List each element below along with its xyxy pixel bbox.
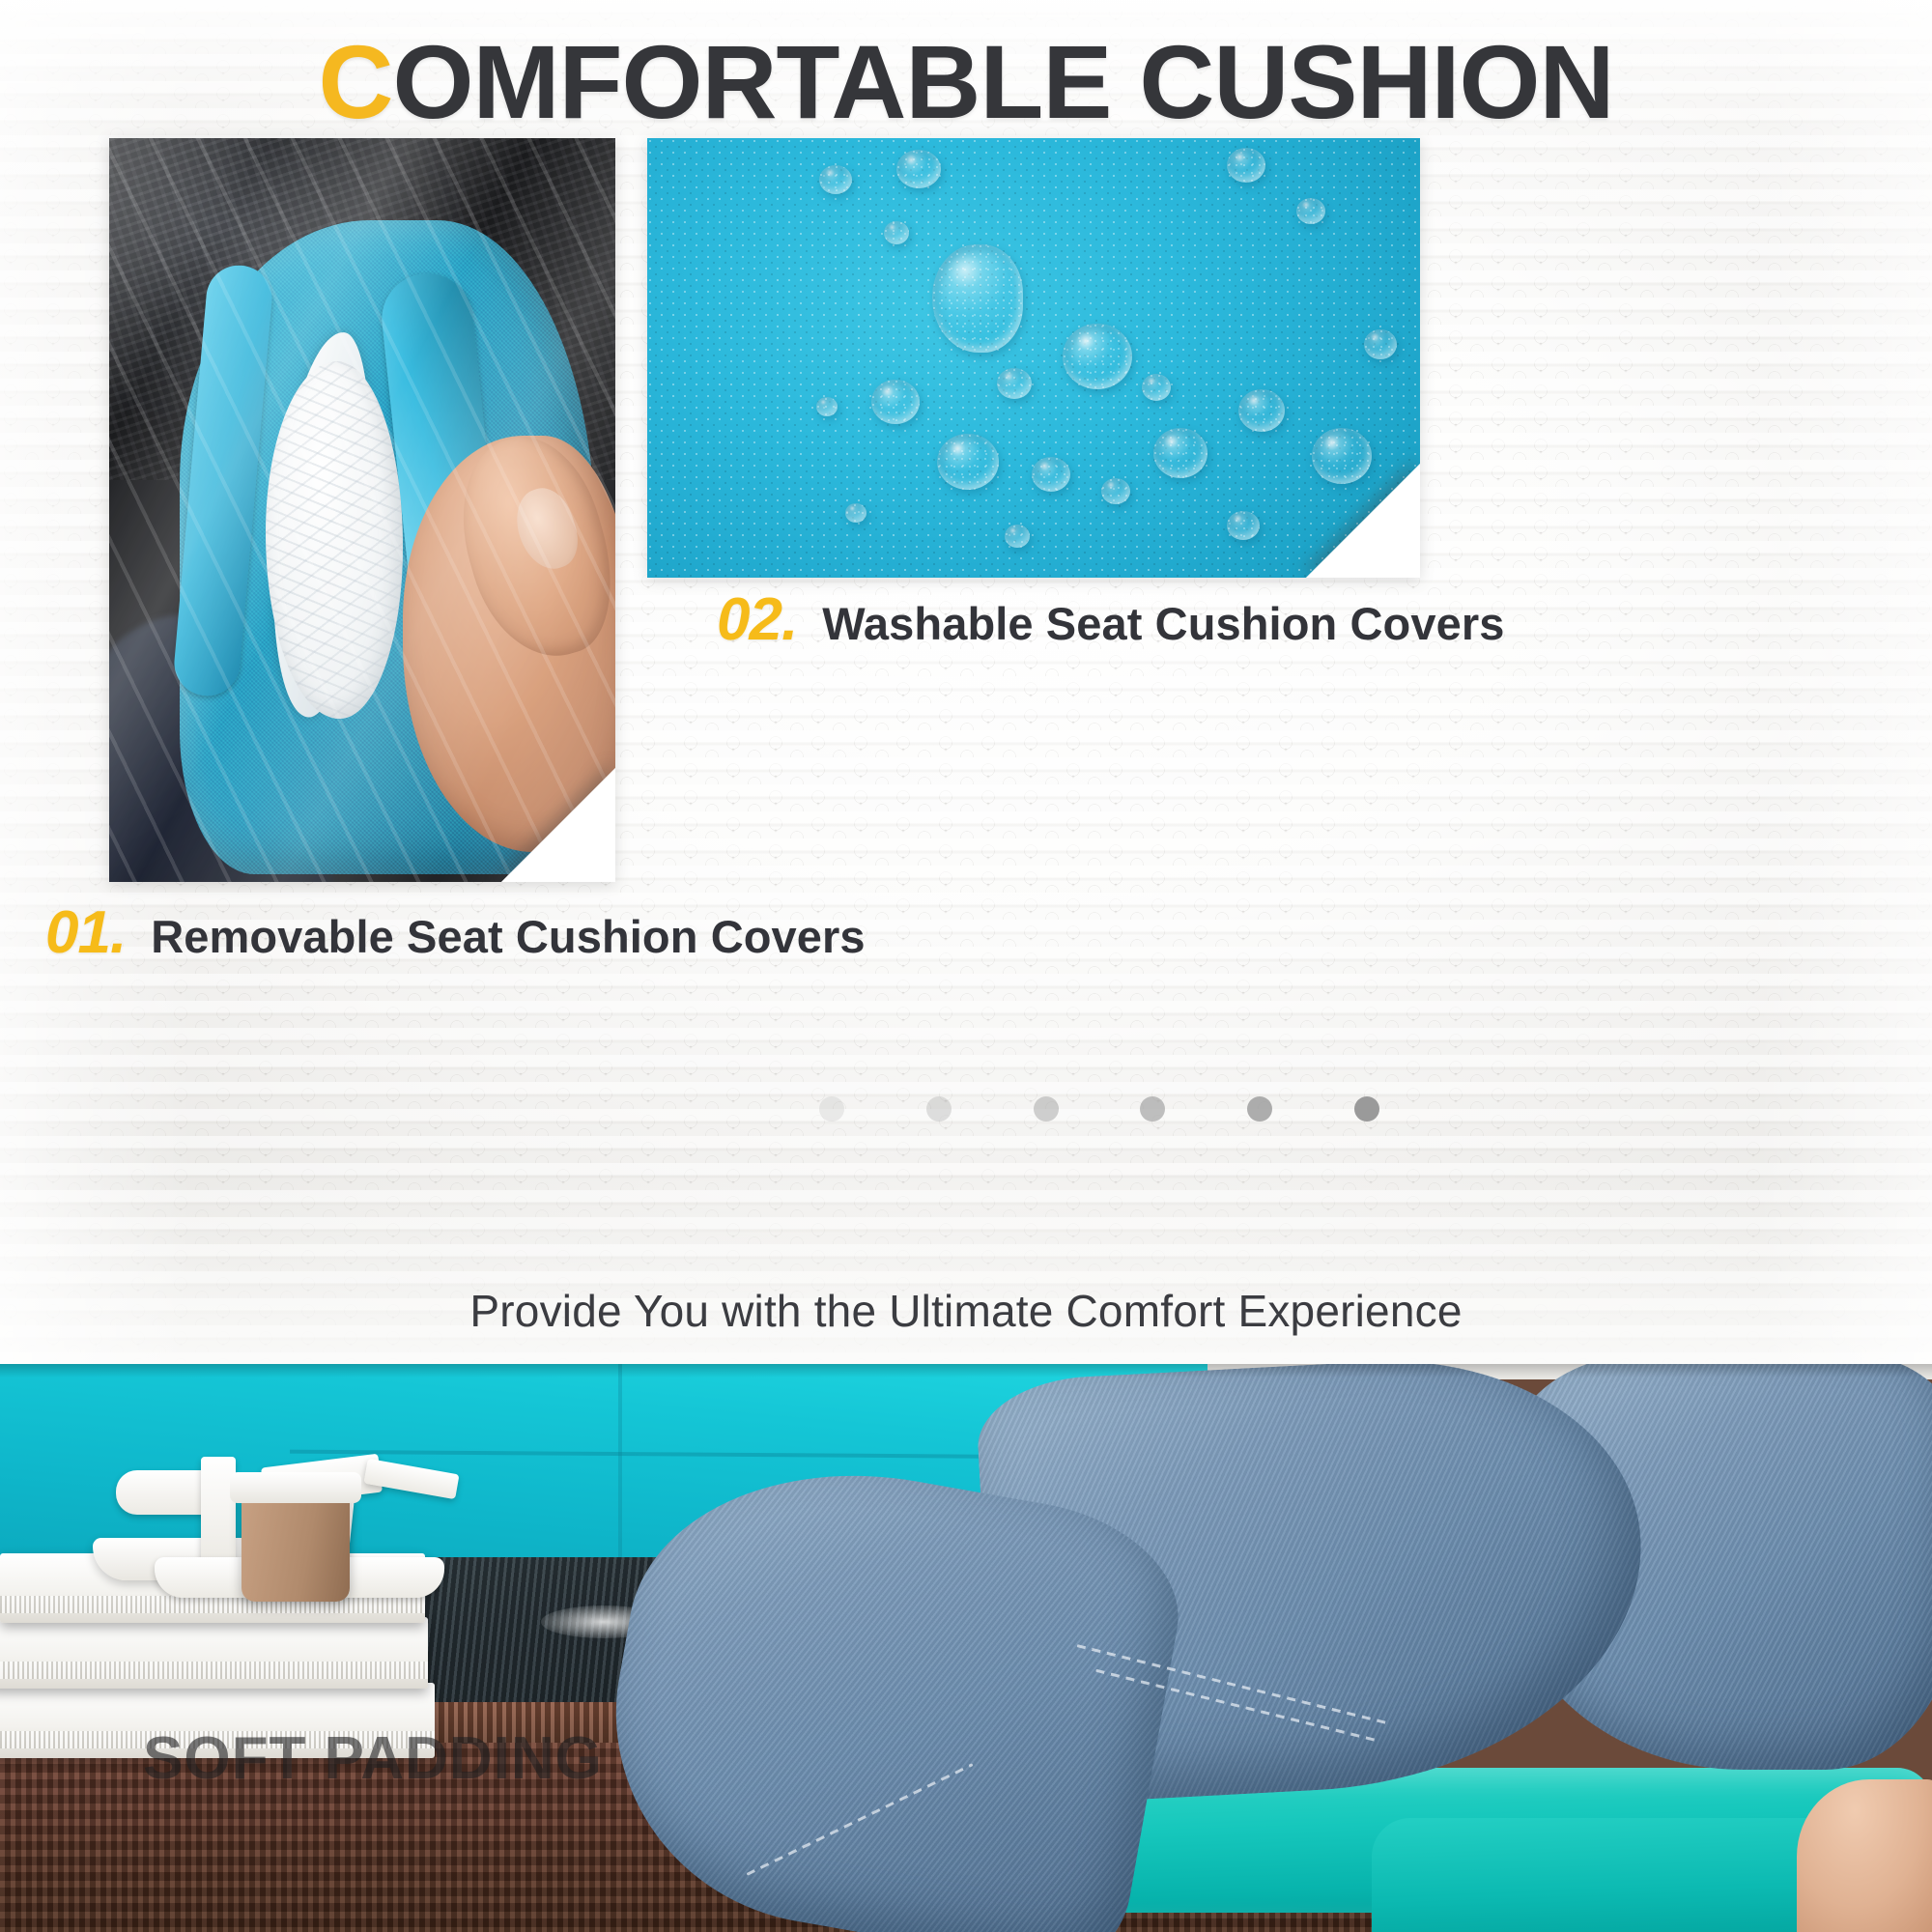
product-feature-poster: COMFORTABLE CUSHION	[0, 0, 1932, 1932]
dot-indicator	[1140, 1096, 1165, 1122]
water-droplet	[1227, 511, 1260, 540]
book-middle	[0, 1617, 428, 1689]
title-rest: OMFORTABLE CUSHION	[393, 23, 1614, 140]
water-droplet	[845, 503, 867, 523]
feature-caption-removable: 01. Removable Seat Cushion Covers	[45, 898, 866, 967]
feature-label-01: Removable Seat Cushion Covers	[151, 910, 865, 963]
water-droplet	[1238, 389, 1285, 432]
decorative-dot-row	[819, 1087, 1379, 1131]
water-droplet	[1312, 428, 1372, 484]
water-droplet	[819, 165, 852, 194]
dot-indicator	[1247, 1096, 1272, 1122]
lifestyle-photo	[0, 1364, 1932, 1932]
feature-caption-washable: 02. Washable Seat Cushion Covers	[717, 585, 1504, 654]
water-droplet	[932, 244, 1023, 353]
water-droplet	[1063, 324, 1132, 389]
water-droplet	[1032, 457, 1070, 492]
dot-indicator	[1034, 1096, 1059, 1122]
feature-number-02: 02.	[717, 585, 797, 654]
water-droplet	[1364, 329, 1397, 359]
plastic-wrap-sheen	[109, 138, 615, 882]
water-droplet	[871, 380, 920, 424]
book-pages	[0, 1731, 435, 1748]
dot-indicator	[1354, 1096, 1379, 1122]
water-droplet	[884, 221, 909, 244]
water-droplet	[816, 397, 838, 416]
water-droplet	[997, 368, 1032, 399]
dot-indicator	[819, 1096, 844, 1122]
water-droplet	[1142, 374, 1171, 401]
book-pages	[0, 1662, 428, 1679]
feature-image-removable-covers	[109, 138, 615, 882]
water-droplet	[1227, 148, 1265, 183]
water-droplet	[937, 434, 999, 490]
feature-number-01: 01.	[45, 898, 126, 967]
water-droplet	[1153, 428, 1207, 478]
feature-label-02: Washable Seat Cushion Covers	[822, 597, 1504, 650]
water-droplet	[896, 150, 941, 188]
coffee-cup	[241, 1488, 350, 1602]
water-droplet	[1005, 525, 1030, 548]
water-droplet	[1296, 198, 1325, 224]
water-droplet	[1101, 478, 1130, 504]
book-bottom	[0, 1683, 435, 1758]
page-title: COMFORTABLE CUSHION	[0, 21, 1932, 142]
feature-image-washable-covers	[647, 138, 1420, 578]
dot-indicator	[926, 1096, 952, 1122]
photo-top-shadow	[0, 1364, 1932, 1378]
tagline: Provide You with the Ultimate Comfort Ex…	[0, 1285, 1932, 1337]
coffee-cup-lid	[230, 1472, 361, 1503]
title-lead-letter: C	[319, 23, 393, 140]
skin-sliver	[1797, 1779, 1932, 1932]
